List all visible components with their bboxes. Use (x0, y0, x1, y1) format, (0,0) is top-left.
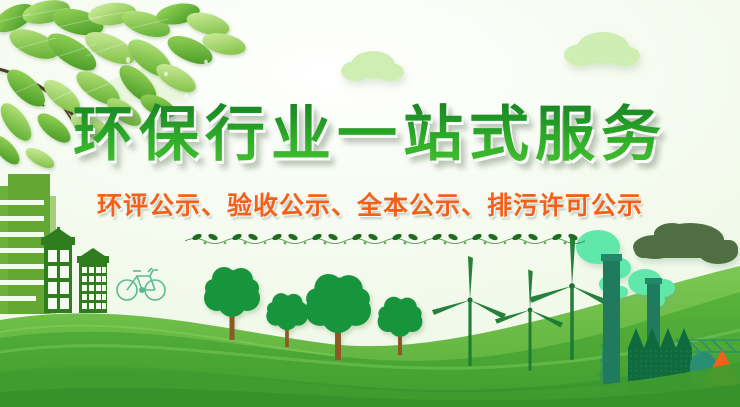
eco-banner: 环保行业一站式服务 环评公示、验收公示、全本公示、排污许可公示 (0, 0, 740, 407)
leaves-branch-decoration (0, 0, 740, 407)
